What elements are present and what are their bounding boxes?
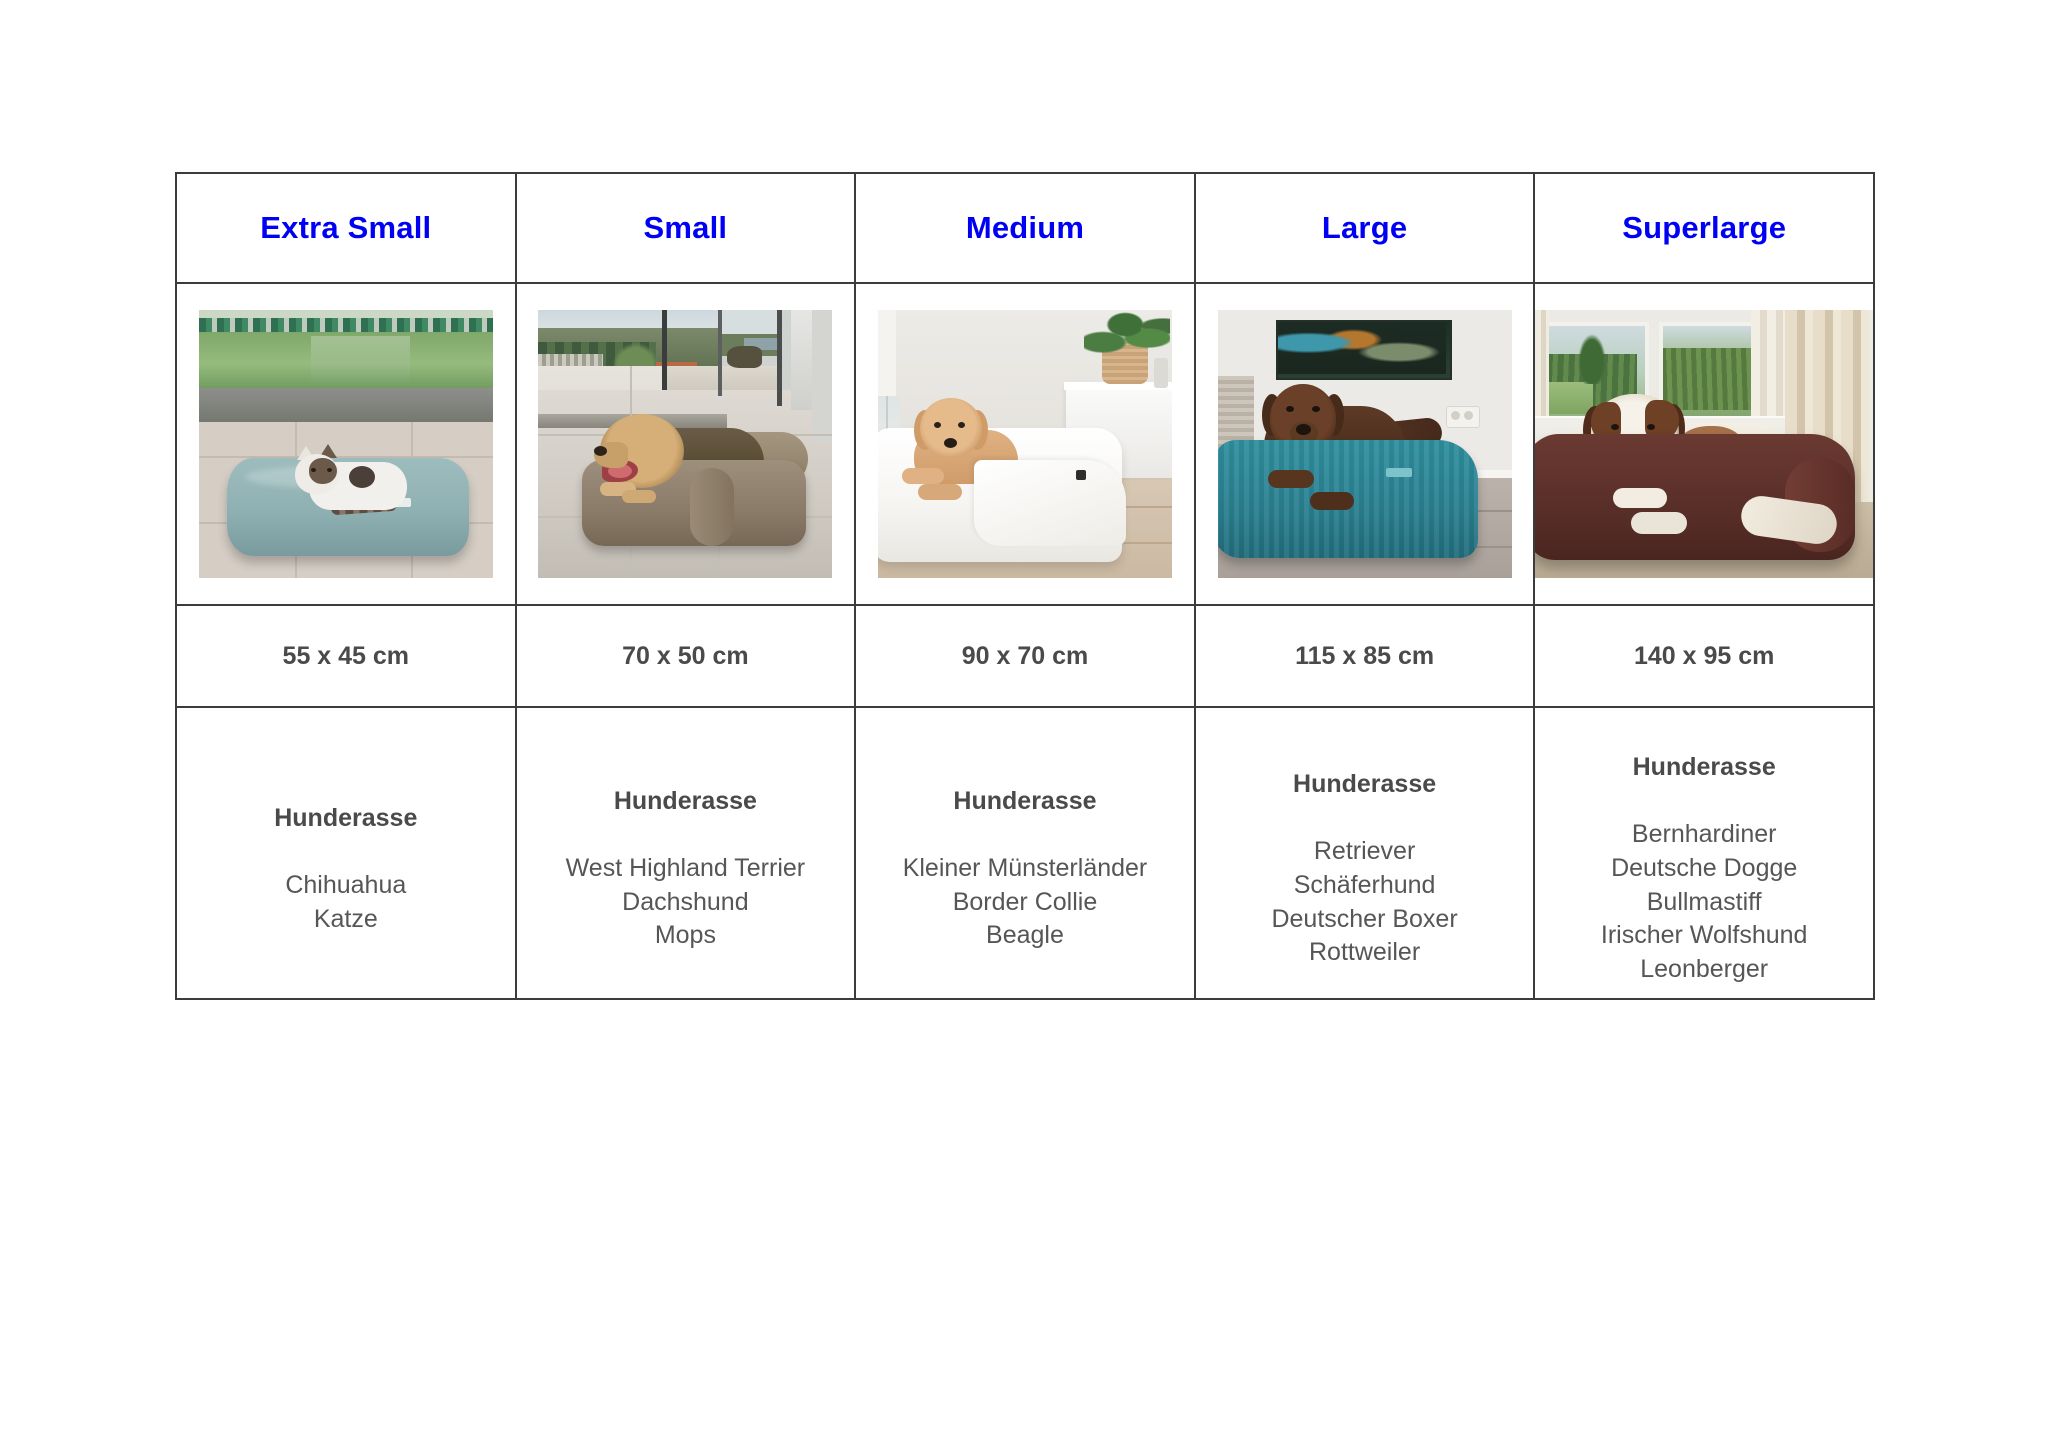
dog-eye-right <box>958 422 965 428</box>
terrier-on-brown-dog-bed-photo <box>538 310 832 578</box>
size-header-label: Medium <box>856 211 1194 245</box>
chocolate-labrador-on-teal-dog-bed-photo <box>1218 310 1512 578</box>
photo-cell-medium <box>855 283 1195 605</box>
breed-item: Rottweiler <box>1196 936 1534 970</box>
dimensions-cell-small: 70 x 50 cm <box>516 605 856 707</box>
dimensions-label: 115 x 85 cm <box>1196 642 1534 671</box>
breeds-heading: Hunderasse <box>1535 753 1873 782</box>
photo-wrapper <box>1196 284 1534 604</box>
breeds-heading: Hunderasse <box>177 804 515 833</box>
dog-paw <box>1310 492 1354 510</box>
breed-item: Border Collie <box>856 886 1194 920</box>
breed-item: Bullmastiff <box>1535 886 1873 920</box>
breeds-list: West Highland TerrierDachshundMops <box>517 852 855 953</box>
breed-item: Leonberger <box>1535 953 1873 987</box>
breeds-heading: Hunderasse <box>517 787 855 816</box>
photo-wrapper <box>1535 284 1873 604</box>
header-cell-superlarge: Superlarge <box>1534 173 1874 283</box>
dimensions-label: 90 x 70 cm <box>856 642 1194 671</box>
breed-item: Mops <box>517 919 855 953</box>
cockapoo-on-white-dog-bed-photo <box>878 310 1172 578</box>
saint-bernard-on-dark-brown-dog-bed-photo <box>1535 310 1873 578</box>
breeds-cell-small: Hunderasse West Highland TerrierDachshun… <box>516 707 856 999</box>
breeds-list: RetrieverSchäferhundDeutscher BoxerRottw… <box>1196 835 1534 970</box>
dog-eye-right <box>1312 406 1320 412</box>
dog-paw <box>918 484 962 500</box>
dimensions-label: 70 x 50 cm <box>517 642 855 671</box>
table-header-row: Extra Small Small Medium Large Superlarg… <box>176 173 1874 283</box>
breeds-block: Hunderasse Kleiner MünsterländerBorder C… <box>856 753 1194 953</box>
socket-hole <box>1464 411 1473 420</box>
cat-eye-right <box>327 468 332 472</box>
dimensions-cell-superlarge: 140 x 95 cm <box>1534 605 1874 707</box>
size-header-label: Small <box>517 211 855 245</box>
header-cell-large: Large <box>1195 173 1535 283</box>
breed-item: Beagle <box>856 919 1194 953</box>
breeds-cell-large: Hunderasse RetrieverSchäferhundDeutscher… <box>1195 707 1535 999</box>
dimensions-cell-extra-small: 55 x 45 cm <box>176 605 516 707</box>
breeds-heading: Hunderasse <box>1196 770 1534 799</box>
page-canvas: Extra Small Small Medium Large Superlarg… <box>0 0 2048 1448</box>
socket-hole <box>1451 411 1460 420</box>
hedge-layer <box>1663 348 1751 410</box>
glass-reflection <box>311 336 411 384</box>
breeds-list: ChihuahuaKatze <box>177 869 515 937</box>
photo-cell-extra-small <box>176 283 516 605</box>
dog-bed-size-table: Extra Small Small Medium Large Superlarg… <box>175 172 1875 1000</box>
dog-paw <box>622 490 656 503</box>
photo-wrapper <box>177 284 515 604</box>
photo-cell-superlarge <box>1534 283 1874 605</box>
header-cell-extra-small: Extra Small <box>176 173 516 283</box>
wall-artwork <box>1278 322 1446 374</box>
breeds-block: Hunderasse ChihuahuaKatze <box>177 770 515 937</box>
dog-paw <box>1631 512 1687 534</box>
dog-eye-left <box>1286 406 1294 412</box>
dimensions-label: 140 x 95 cm <box>1535 642 1873 671</box>
bed-bolster-end <box>690 468 734 546</box>
breed-item: Kleiner Münsterländer <box>856 852 1194 886</box>
brand-tag <box>1076 470 1086 480</box>
window-mullion <box>777 310 782 406</box>
photo-wrapper <box>856 284 1194 604</box>
breed-item: Katze <box>177 903 515 937</box>
breeds-list: Kleiner MünsterländerBorder CollieBeagle <box>856 852 1194 953</box>
window-mullion <box>718 310 722 396</box>
breed-item: Bernhardiner <box>1535 818 1873 852</box>
window-mullion <box>662 310 667 390</box>
header-cell-small: Small <box>516 173 856 283</box>
breed-item: Chihuahua <box>177 869 515 903</box>
cat-eye-left <box>311 468 316 472</box>
dimensions-cell-medium: 90 x 70 cm <box>855 605 1195 707</box>
cat-fur-patch <box>349 466 375 488</box>
lawn-layer <box>1547 382 1593 414</box>
dog-eye-left <box>934 422 941 428</box>
dog-paw <box>1613 488 1667 508</box>
breeds-cell-superlarge: Hunderasse BernhardinerDeutsche DoggeBul… <box>1534 707 1874 999</box>
breed-item: Retriever <box>1196 835 1534 869</box>
vase <box>1154 358 1168 388</box>
table-breeds-row: Hunderasse ChihuahuaKatze Hunderasse Wes… <box>176 707 1874 999</box>
breeds-block: Hunderasse RetrieverSchäferhundDeutscher… <box>1196 736 1534 970</box>
breeds-block: Hunderasse West Highland TerrierDachshun… <box>517 753 855 953</box>
table-dimensions-row: 55 x 45 cm 70 x 50 cm 90 x 70 cm 115 x 8… <box>176 605 1874 707</box>
breed-item: Deutscher Boxer <box>1196 903 1534 937</box>
table-photo-row <box>176 283 1874 605</box>
bed-flap <box>974 460 1126 546</box>
size-header-label: Superlarge <box>1535 211 1873 245</box>
dog-head <box>920 398 982 458</box>
tree <box>1575 328 1609 384</box>
dimensions-label: 55 x 45 cm <box>177 642 515 671</box>
breed-item: Dachshund <box>517 886 855 920</box>
breeds-list: BernhardinerDeutsche DoggeBullmastiffIri… <box>1535 818 1873 987</box>
dog-nose <box>944 438 957 448</box>
wall <box>812 310 833 442</box>
photo-cell-small <box>516 283 856 605</box>
breeds-cell-medium: Hunderasse Kleiner MünsterländerBorder C… <box>855 707 1195 999</box>
header-cell-medium: Medium <box>855 173 1195 283</box>
breed-item: Schäferhund <box>1196 869 1534 903</box>
breeds-cell-extra-small: Hunderasse ChihuahuaKatze <box>176 707 516 999</box>
dog-nose <box>1296 424 1311 435</box>
breed-item: Irischer Wolfshund <box>1535 919 1873 953</box>
breeds-heading: Hunderasse <box>856 787 1194 816</box>
size-header-label: Large <box>1196 211 1534 245</box>
rock-sculpture <box>727 346 762 368</box>
dog-paw <box>902 468 944 484</box>
fern-plant <box>1084 312 1170 354</box>
dimensions-cell-large: 115 x 85 cm <box>1195 605 1535 707</box>
photo-wrapper <box>517 284 855 604</box>
dog-paw <box>1268 470 1314 488</box>
photo-cell-large <box>1195 283 1535 605</box>
breed-item: Deutsche Dogge <box>1535 852 1873 886</box>
cat-on-light-blue-dog-bed-photo <box>199 310 493 578</box>
breed-item: West Highland Terrier <box>517 852 855 886</box>
brand-tag <box>1386 468 1412 477</box>
size-header-label: Extra Small <box>177 211 515 245</box>
breeds-block: Hunderasse BernhardinerDeutsche DoggeBul… <box>1535 719 1873 987</box>
